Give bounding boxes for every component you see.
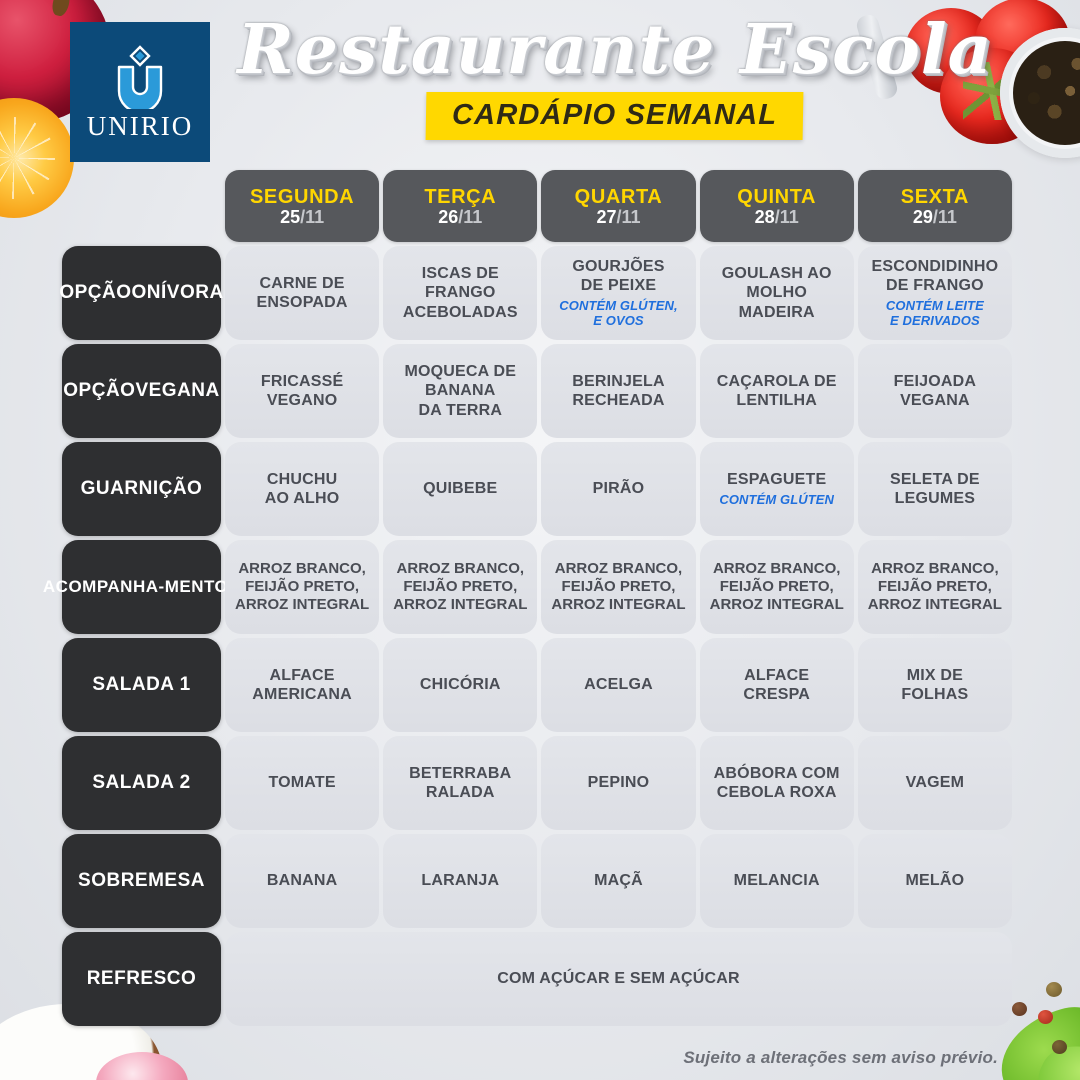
day-number: 29 xyxy=(913,207,933,227)
menu-cell: ALFACEAMERICANA xyxy=(225,638,379,732)
menu-cell: BETERRABARALADA xyxy=(383,736,537,830)
menu-cell: PEPINO xyxy=(541,736,695,830)
day-month: /11 xyxy=(458,207,482,227)
dish-name: FRICASSÉVEGANO xyxy=(261,372,344,410)
radish-decoration xyxy=(96,1052,188,1080)
menu-cell: LARANJA xyxy=(383,834,537,928)
dish-name: BETERRABARALADA xyxy=(409,764,511,802)
dish-name: ARROZ BRANCO,FEIJÃO PRETO,ARROZ INTEGRAL xyxy=(710,560,844,615)
dish-name: TOMATE xyxy=(268,773,335,792)
day-header-row: SEGUNDA 25/11 TERÇA 26/11 QUARTA 27/11 Q… xyxy=(62,170,1012,242)
dish-name: LARANJA xyxy=(421,871,499,890)
day-header-terca: TERÇA 26/11 xyxy=(383,170,537,242)
dish-name: BERINJELARECHEADA xyxy=(572,372,664,410)
row-label-text: OPÇÃO xyxy=(63,380,135,401)
allergen-note: CONTÉM LEITEE DERIVADOS xyxy=(886,299,984,329)
day-header-quinta: QUINTA 28/11 xyxy=(700,170,854,242)
row-label-salada-1: SALADA 1 xyxy=(62,638,221,732)
menu-cell: ISCAS DEFRANGOACEBOLADAS xyxy=(383,246,537,340)
menu-cell: SELETA DELEGUMES xyxy=(858,442,1012,536)
peppercorn-decoration xyxy=(1046,982,1062,997)
footnote: Sujeito a alterações sem aviso prévio. xyxy=(683,1048,998,1068)
menu-cell: CARNE DEENSOPADA xyxy=(225,246,379,340)
peppercorn-decoration xyxy=(1052,1040,1067,1054)
menu-cell: CHUCHUAO ALHO xyxy=(225,442,379,536)
dish-name: ISCAS DEFRANGOACEBOLADAS xyxy=(403,264,518,322)
dish-name: CARNE DEENSOPADA xyxy=(257,274,348,312)
day-name: SEGUNDA xyxy=(250,187,354,207)
menu-cell: MELÃO xyxy=(858,834,1012,928)
menu-cell: QUIBEBE xyxy=(383,442,537,536)
menu-row-salada-2: SALADA 2 TOMATE BETERRABARALADA PEPINO A… xyxy=(62,736,1012,830)
menu-cell: MELANCIA xyxy=(700,834,854,928)
dish-name: ABÓBORA COMCEBOLA ROXA xyxy=(714,764,840,802)
day-number: 28 xyxy=(755,207,775,227)
menu-cell: MIX DEFOLHAS xyxy=(858,638,1012,732)
row-label-onivora: OPÇÃO ONÍVORA xyxy=(62,246,221,340)
menu-cell: VAGEM xyxy=(858,736,1012,830)
dish-name: PIRÃO xyxy=(593,479,645,498)
day-month: /11 xyxy=(775,207,799,227)
menu-cell: GOURJÕESDE PEIXE CONTÉM GLÚTEN,E OVOS xyxy=(541,246,695,340)
row-label-refresco: REFRESCO xyxy=(62,932,221,1026)
subtitle-badge: CARDÁPIO SEMANAL xyxy=(426,92,804,140)
unirio-wordmark: UNIRIO xyxy=(87,113,194,140)
dish-name: CHUCHUAO ALHO xyxy=(265,470,340,508)
menu-cell: CAÇAROLA DELENTILHA xyxy=(700,344,854,438)
menu-cell: ARROZ BRANCO,FEIJÃO PRETO,ARROZ INTEGRAL xyxy=(383,540,537,634)
unirio-logo: UNIRIO xyxy=(70,22,210,162)
day-month: /11 xyxy=(616,207,640,227)
dish-name: MELÃO xyxy=(906,871,965,890)
page-title: Restaurante Escola xyxy=(230,16,1000,84)
menu-row-vegana: OPÇÃO VEGANA FRICASSÉVEGANO MOQUECA DEBA… xyxy=(62,344,1012,438)
dish-name: ALFACECRESPA xyxy=(743,666,810,704)
menu-cell: ALFACECRESPA xyxy=(700,638,854,732)
row-label-sobremesa: SOBREMESA xyxy=(62,834,221,928)
menu-row-onivora: OPÇÃO ONÍVORA CARNE DEENSOPADA ISCAS DEF… xyxy=(62,246,1012,340)
dish-name: ESCONDIDINHODE FRANGO xyxy=(871,257,998,295)
dish-name: BANANA xyxy=(267,871,338,890)
day-number: 27 xyxy=(596,207,616,227)
menu-cell: TOMATE xyxy=(225,736,379,830)
peppercorn-decoration xyxy=(1038,1010,1053,1024)
row-label-text: REFRESCO xyxy=(87,968,197,989)
menu-cell: ESPAGUETE CONTÉM GLÚTEN xyxy=(700,442,854,536)
dish-name: MELANCIA xyxy=(734,871,820,890)
day-header-quarta: QUARTA 27/11 xyxy=(541,170,695,242)
day-name: TERÇA xyxy=(424,187,496,207)
row-label-text: GUARNIÇÃO xyxy=(81,478,203,499)
dish-name: ESPAGUETE xyxy=(727,470,826,489)
row-label-text: SALADA 2 xyxy=(92,772,190,793)
day-name: QUARTA xyxy=(575,187,663,207)
dish-name: FEIJOADAVEGANA xyxy=(894,372,977,410)
menu-cell: ACELGA xyxy=(541,638,695,732)
allergen-note: CONTÉM GLÚTEN xyxy=(719,493,834,508)
row-label-text: ONÍVORA xyxy=(132,282,224,303)
menu-grid: SEGUNDA 25/11 TERÇA 26/11 QUARTA 27/11 Q… xyxy=(62,170,1012,1026)
day-name: QUINTA xyxy=(737,187,816,207)
dish-name: GOULASH AOMOLHOMADEIRA xyxy=(722,264,832,322)
dish-name: MAÇÃ xyxy=(594,871,643,890)
row-label-salada-2: SALADA 2 xyxy=(62,736,221,830)
menu-row-sobremesa: SOBREMESA BANANA LARANJA MAÇÃ MELANCIA M… xyxy=(62,834,1012,928)
day-month: /11 xyxy=(933,207,957,227)
row-label-text: SOBREMESA xyxy=(78,870,205,891)
grid-corner-spacer xyxy=(62,170,221,242)
menu-row-guarnicao: GUARNIÇÃO CHUCHUAO ALHO QUIBEBE PIRÃO ES… xyxy=(62,442,1012,536)
menu-cell: ARROZ BRANCO,FEIJÃO PRETO,ARROZ INTEGRAL xyxy=(858,540,1012,634)
day-header-sexta: SEXTA 29/11 xyxy=(858,170,1012,242)
menu-cell: BANANA xyxy=(225,834,379,928)
day-date: 28/11 xyxy=(755,208,799,226)
dish-name: GOURJÕESDE PEIXE xyxy=(572,257,664,295)
dish-name: SELETA DELEGUMES xyxy=(890,470,980,508)
menu-cell: BERINJELARECHEADA xyxy=(541,344,695,438)
day-date: 29/11 xyxy=(913,208,957,226)
menu-cell: FRICASSÉVEGANO xyxy=(225,344,379,438)
menu-cell: FEIJOADAVEGANA xyxy=(858,344,1012,438)
day-date: 26/11 xyxy=(438,208,482,226)
day-date: 25/11 xyxy=(280,208,324,226)
menu-cell: MAÇÃ xyxy=(541,834,695,928)
title-block: Restaurante Escola CARDÁPIO SEMANAL xyxy=(230,16,1000,140)
day-number: 26 xyxy=(438,207,458,227)
poster-header: UNIRIO Restaurante Escola CARDÁPIO SEMAN… xyxy=(0,0,1080,162)
dish-name: CAÇAROLA DELENTILHA xyxy=(717,372,837,410)
dish-name: ALFACEAMERICANA xyxy=(252,666,352,704)
menu-row-acompanhamentos: ACOMPANHA- MENTOS ARROZ BRANCO,FEIJÃO PR… xyxy=(62,540,1012,634)
menu-cell-refresco: COM AÇÚCAR E SEM AÇÚCAR xyxy=(225,932,1012,1026)
menu-cell: GOULASH AOMOLHOMADEIRA xyxy=(700,246,854,340)
day-month: /11 xyxy=(300,207,324,227)
dish-name: VAGEM xyxy=(906,773,964,792)
menu-cell: CHICÓRIA xyxy=(383,638,537,732)
unirio-crest-icon xyxy=(103,45,177,109)
dish-name: ARROZ BRANCO,FEIJÃO PRETO,ARROZ INTEGRAL xyxy=(551,560,685,615)
day-name: SEXTA xyxy=(901,187,969,207)
dish-name: QUIBEBE xyxy=(423,479,497,498)
menu-cell: ARROZ BRANCO,FEIJÃO PRETO,ARROZ INTEGRAL xyxy=(225,540,379,634)
dish-name: ACELGA xyxy=(584,675,653,694)
menu-row-salada-1: SALADA 1 ALFACEAMERICANA CHICÓRIA ACELGA… xyxy=(62,638,1012,732)
row-label-text: ACOMPANHA- xyxy=(43,577,165,596)
menu-cell: ESCONDIDINHODE FRANGO CONTÉM LEITEE DERI… xyxy=(858,246,1012,340)
day-header-segunda: SEGUNDA 25/11 xyxy=(225,170,379,242)
row-label-text: OPÇÃO xyxy=(59,282,131,303)
subtitle-wrapper: CARDÁPIO SEMANAL xyxy=(230,92,1000,140)
row-label-vegana: OPÇÃO VEGANA xyxy=(62,344,221,438)
menu-cell: MOQUECA DEBANANADA TERRA xyxy=(383,344,537,438)
peppercorn-decoration xyxy=(1012,1002,1027,1016)
dish-name: PEPINO xyxy=(588,773,650,792)
menu-row-refresco: REFRESCO COM AÇÚCAR E SEM AÇÚCAR xyxy=(62,932,1012,1026)
menu-cell: ABÓBORA COMCEBOLA ROXA xyxy=(700,736,854,830)
dish-name: MOQUECA DEBANANADA TERRA xyxy=(404,362,516,420)
dish-name: COM AÇÚCAR E SEM AÇÚCAR xyxy=(497,969,740,988)
row-label-text: VEGANA xyxy=(135,380,219,401)
menu-cell: ARROZ BRANCO,FEIJÃO PRETO,ARROZ INTEGRAL xyxy=(700,540,854,634)
allergen-note: CONTÉM GLÚTEN,E OVOS xyxy=(559,299,677,329)
day-date: 27/11 xyxy=(596,208,640,226)
dish-name: ARROZ BRANCO,FEIJÃO PRETO,ARROZ INTEGRAL xyxy=(393,560,527,615)
menu-cell: PIRÃO xyxy=(541,442,695,536)
day-number: 25 xyxy=(280,207,300,227)
dish-name: CHICÓRIA xyxy=(420,675,501,694)
row-label-text: SALADA 1 xyxy=(92,674,190,695)
dish-name: ARROZ BRANCO,FEIJÃO PRETO,ARROZ INTEGRAL xyxy=(868,560,1002,615)
menu-poster: UNIRIO Restaurante Escola CARDÁPIO SEMAN… xyxy=(0,0,1080,1080)
dish-name: MIX DEFOLHAS xyxy=(901,666,968,704)
row-label-guarnicao: GUARNIÇÃO xyxy=(62,442,221,536)
basil-leaf-decoration xyxy=(1027,1031,1080,1080)
menu-cell: ARROZ BRANCO,FEIJÃO PRETO,ARROZ INTEGRAL xyxy=(541,540,695,634)
row-label-acompanhamentos: ACOMPANHA- MENTOS xyxy=(62,540,221,634)
dish-name: ARROZ BRANCO,FEIJÃO PRETO,ARROZ INTEGRAL xyxy=(235,560,369,615)
